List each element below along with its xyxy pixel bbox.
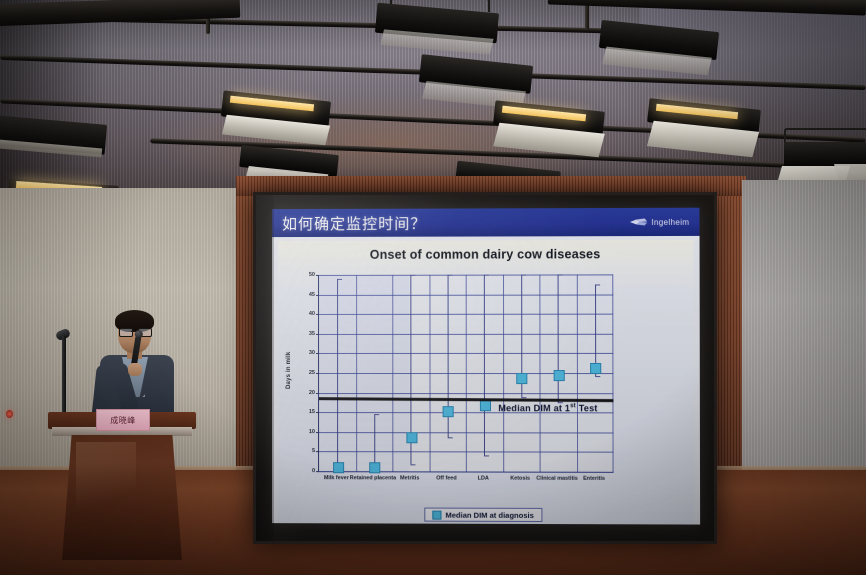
slide-title: 如何确定监控时间？ xyxy=(282,212,426,233)
podium-nameplate: 成晓峰 xyxy=(96,409,150,431)
error-bar-cap xyxy=(521,275,526,276)
slide-body: Onset of common dairy cow diseases Days … xyxy=(272,236,700,525)
data-point-marker[interactable] xyxy=(590,363,601,374)
error-bar xyxy=(484,275,485,456)
speaker-hand xyxy=(128,363,142,376)
chart-title: Onset of common dairy cow diseases xyxy=(278,240,693,262)
x-tick-label: Enteritis xyxy=(568,476,621,483)
legend-swatch-icon xyxy=(432,510,441,519)
error-bar-cap xyxy=(484,275,489,276)
speaker-person xyxy=(92,313,182,423)
stage-light xyxy=(494,106,612,164)
presentation-slide: 如何确定监控时间？ Ingelheim Onset of common dair… xyxy=(272,208,700,525)
data-point-marker[interactable] xyxy=(333,462,344,473)
indicator-light xyxy=(6,410,13,418)
stage-light xyxy=(648,104,768,166)
wall-right xyxy=(742,180,866,480)
boehringer-ingelheim-logo-icon xyxy=(629,217,647,226)
error-bar xyxy=(558,274,559,402)
y-tick-label: 20 xyxy=(309,390,315,396)
stage-light xyxy=(600,26,726,82)
y-tick-mark xyxy=(316,471,319,472)
data-point-marker[interactable] xyxy=(553,370,564,381)
median-reference-label: Median DIM at 1st Test xyxy=(498,403,597,413)
y-tick-label: 10 xyxy=(309,429,315,435)
y-tick-label: 5 xyxy=(312,448,315,454)
y-tick-label: 30 xyxy=(309,350,315,356)
y-tick-label: 50 xyxy=(309,272,315,278)
podium-nameplate-text: 成晓峰 xyxy=(110,415,136,426)
y-tick-label: 35 xyxy=(309,331,315,337)
lecture-hall-photo: 如何确定监控时间？ Ingelheim Onset of common dair… xyxy=(0,0,866,575)
data-point-marker[interactable] xyxy=(516,373,527,384)
error-bar-cap xyxy=(411,275,416,276)
error-bar xyxy=(595,284,596,376)
brand-logo: Ingelheim xyxy=(629,217,689,226)
error-bar-cap xyxy=(411,464,416,465)
legend-label: Median DIM at diagnosis xyxy=(445,510,533,519)
podium-highlight xyxy=(76,442,136,534)
error-bar-cap xyxy=(595,376,600,377)
stage-light xyxy=(376,2,506,60)
error-bar-cap xyxy=(447,437,452,438)
chart-legend: Median DIM at diagnosis xyxy=(424,508,542,522)
data-point-marker[interactable] xyxy=(480,400,491,411)
error-bar-cap xyxy=(484,456,489,457)
plot-area-wrapper: Days in milk 05101520253035404550 Median… xyxy=(278,270,690,524)
data-point-marker[interactable] xyxy=(369,462,380,473)
x-axis-labels: Milk feverRetained placentaMetritisOff f… xyxy=(318,475,613,502)
stage-light xyxy=(0,120,114,178)
slide-header: 如何确定监控时间？ Ingelheim xyxy=(272,208,700,237)
error-bar-cap xyxy=(374,414,379,415)
podium: 成晓峰 xyxy=(46,412,198,560)
y-tick-label: 45 xyxy=(309,292,315,298)
screen-left-shadow xyxy=(256,195,274,541)
error-bar-cap xyxy=(558,274,563,275)
error-bar-cap xyxy=(337,279,342,280)
stage-light xyxy=(222,96,338,152)
y-tick-label: 40 xyxy=(309,311,315,317)
data-point-marker[interactable] xyxy=(406,433,417,444)
brand-name: Ingelheim xyxy=(651,217,689,226)
error-bar xyxy=(337,279,338,471)
projection-screen[interactable]: 如何确定监控时间？ Ingelheim Onset of common dair… xyxy=(253,192,717,544)
projection-surface: 如何确定监控时间？ Ingelheim Onset of common dair… xyxy=(256,195,714,541)
data-point-marker[interactable] xyxy=(443,406,454,417)
y-axis-label: Days in milk xyxy=(286,352,292,389)
data-series xyxy=(319,274,614,471)
y-tick-label: 25 xyxy=(309,370,315,376)
y-tick-label: 0 xyxy=(312,468,315,474)
error-bar-cap xyxy=(595,284,600,285)
y-tick-label: 15 xyxy=(309,409,315,415)
error-bar-cap xyxy=(447,275,452,276)
chart-container: Onset of common dairy cow diseases Days … xyxy=(278,240,694,525)
plot-area: 05101520253035404550 Median DIM at 1st T… xyxy=(318,274,614,472)
